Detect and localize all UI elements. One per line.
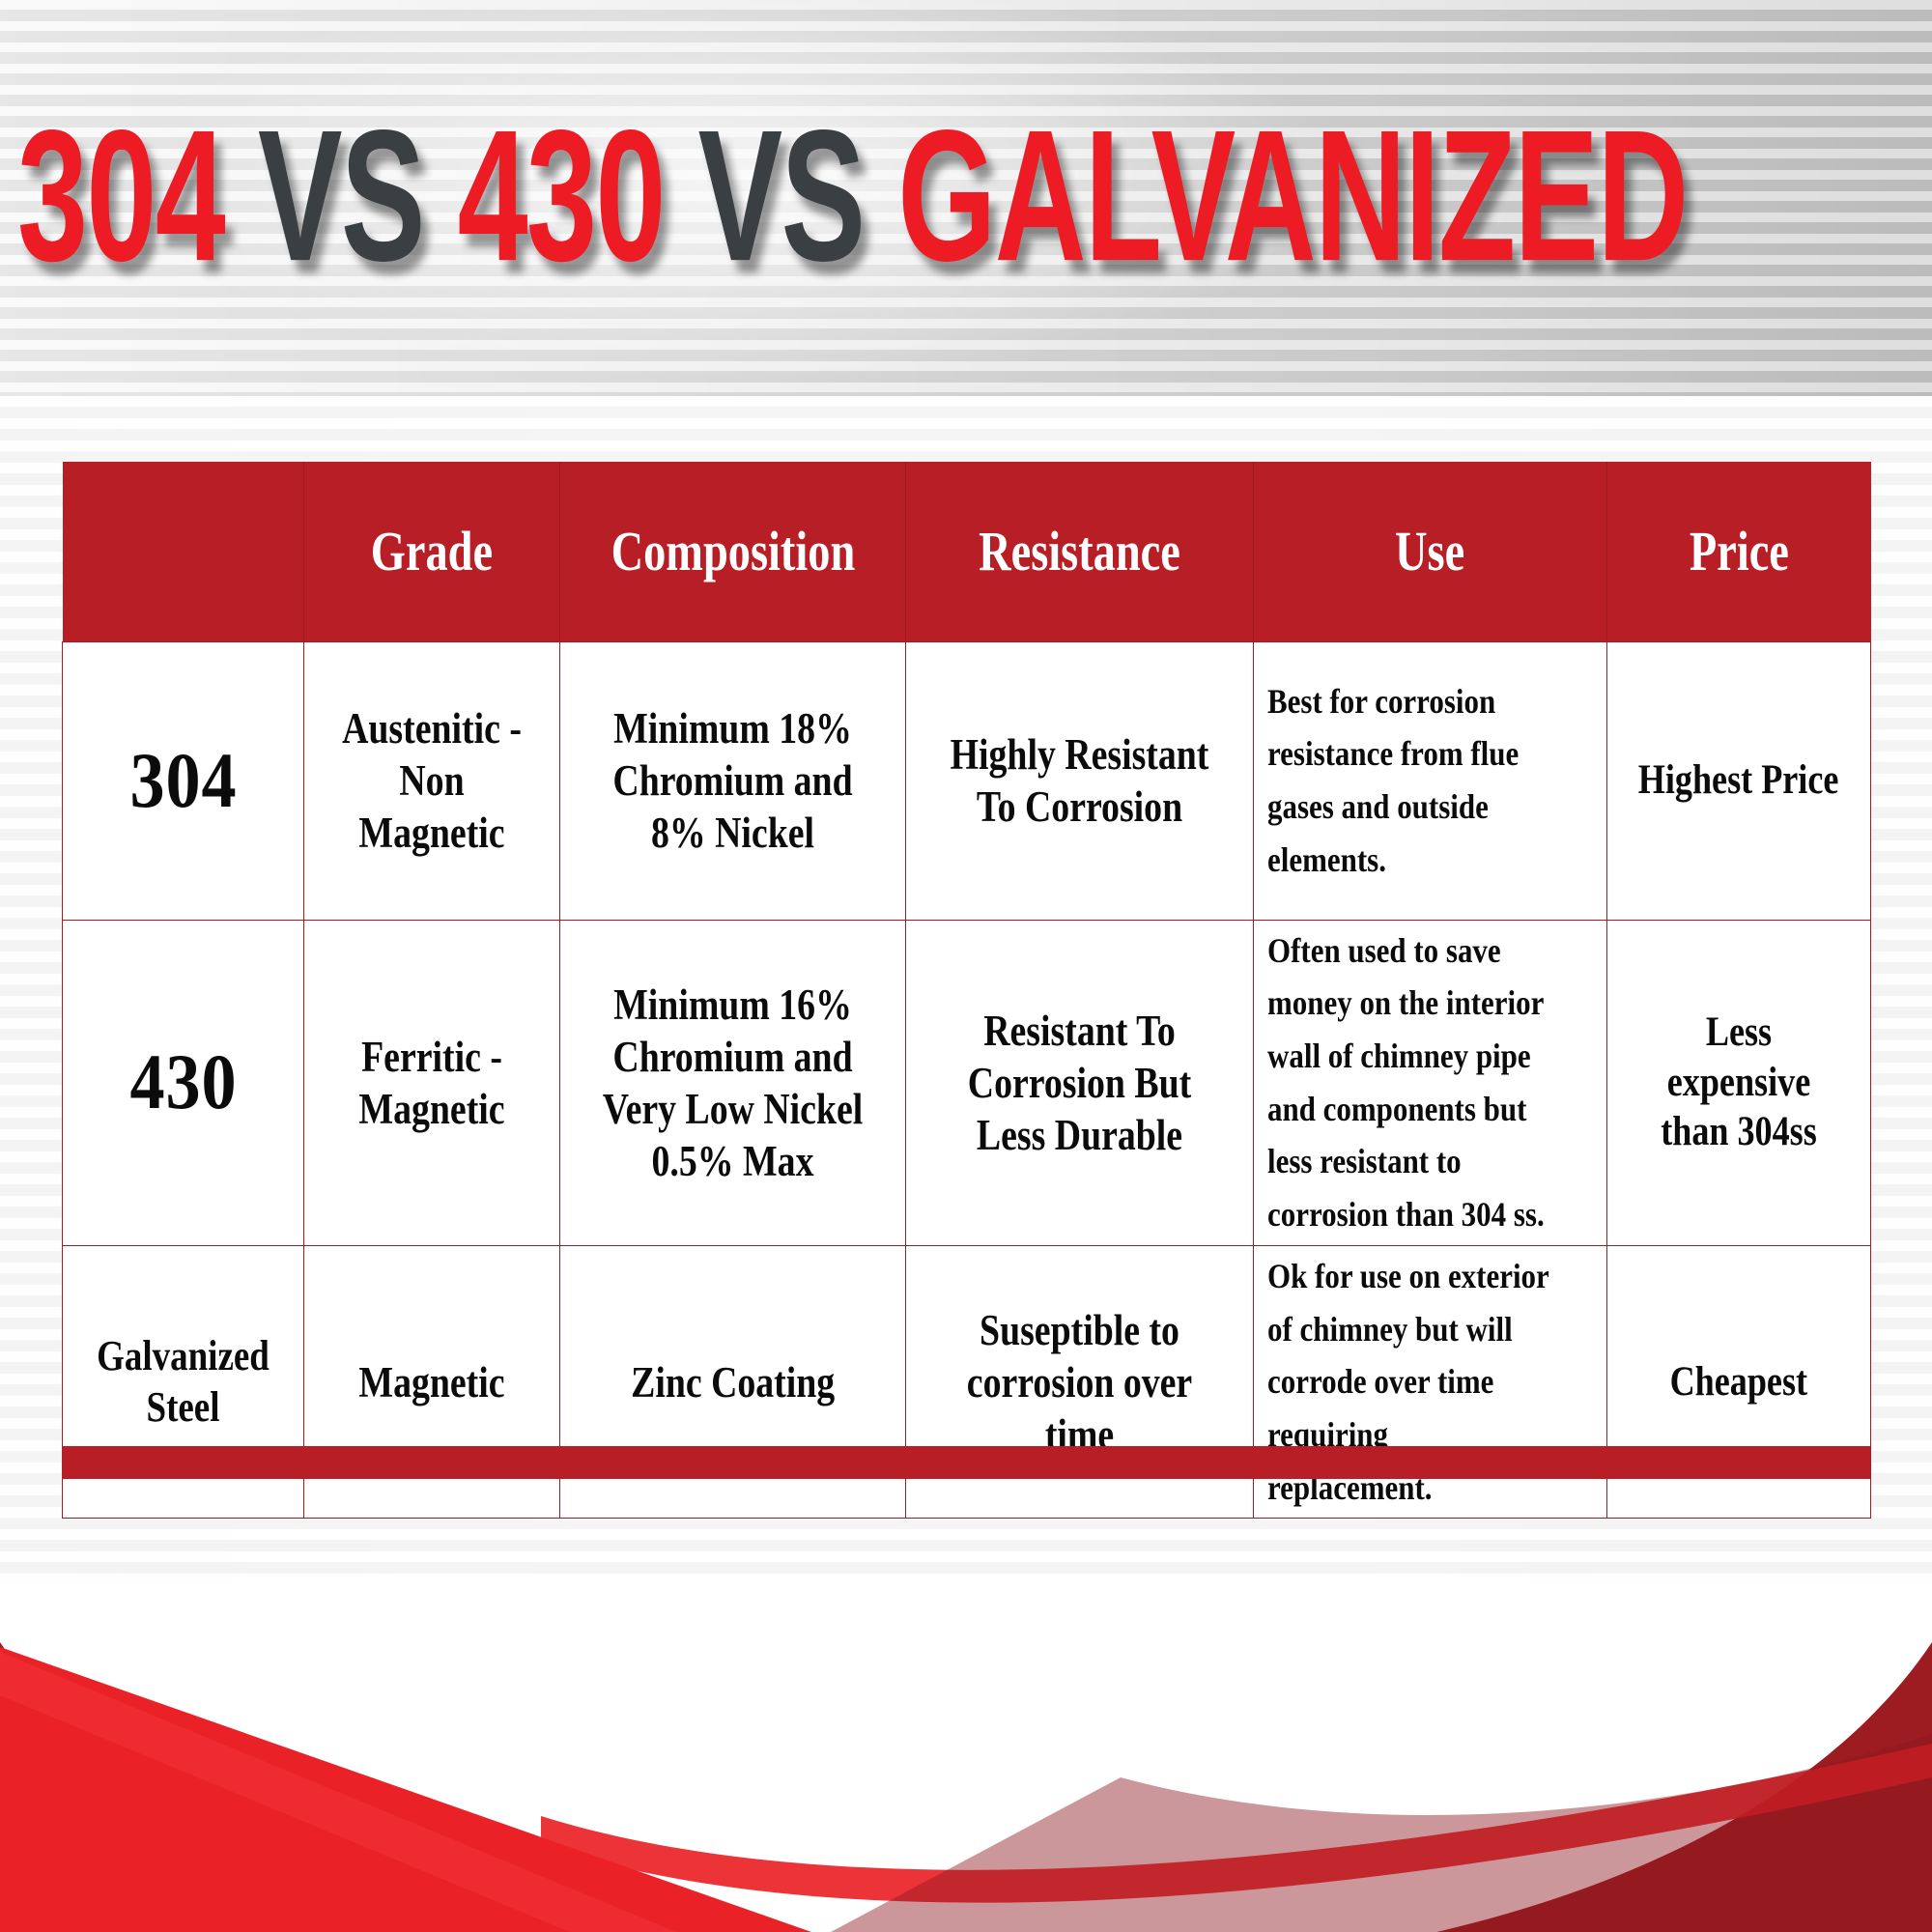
table-header: Grade Composition Resistance Use Price — [63, 462, 1871, 641]
table-body: 304 Austenitic - Non Magnetic Minimum 18… — [63, 641, 1871, 1519]
header-row: Grade Composition Resistance Use Price — [63, 462, 1871, 641]
wave-shadow-shape — [831, 1734, 1932, 1932]
cell-material-430: 430 — [63, 920, 304, 1245]
cell-grade-304: Austenitic - Non Magnetic — [304, 641, 560, 920]
header-cell-blank — [63, 462, 304, 641]
header-cell-composition: Composition — [560, 462, 906, 641]
table-footer-bar — [62, 1446, 1870, 1479]
bottom-decoration — [0, 1526, 1932, 1932]
table-row: 304 Austenitic - Non Magnetic Minimum 18… — [63, 641, 1871, 920]
wave-bright-left-shape — [0, 1647, 811, 1932]
cell-use-430: Often used to save money on the interior… — [1254, 920, 1607, 1245]
title-part-vs-2: VS — [665, 91, 898, 299]
comparison-table: Grade Composition Resistance Use Price 3… — [62, 462, 1871, 1519]
title-part-vs-1: VS — [224, 91, 458, 299]
table-row: 430 Ferritic - Magnetic Minimum 16% Chro… — [63, 920, 1871, 1245]
header-cell-use: Use — [1254, 462, 1607, 641]
cell-grade-430: Ferritic - Magnetic — [304, 920, 560, 1245]
cell-composition-430: Minimum 16% Chromium and Very Low Nickel… — [560, 920, 906, 1245]
cell-composition-304: Minimum 18% Chromium and 8% Nickel — [560, 641, 906, 920]
title-part-304: 304 — [17, 91, 224, 299]
comparison-table-wrapper: Grade Composition Resistance Use Price 3… — [62, 462, 1870, 1519]
cell-price-430: Less expensive than 304ss — [1607, 920, 1871, 1245]
cell-price-304: Highest Price — [1607, 641, 1871, 920]
cell-resistance-430: Resistant To Corrosion But Less Durable — [906, 920, 1254, 1245]
title-part-galvanized: GALVANIZED — [897, 91, 1687, 299]
page-title: 304 VS 430 VS GALVANIZED — [17, 111, 1544, 282]
header-cell-resistance: Resistance — [906, 462, 1254, 641]
title-part-430: 430 — [458, 91, 665, 299]
cell-resistance-304: Highly Resistant To Corrosion — [906, 641, 1254, 920]
bottom-wave-graphic — [0, 1526, 1932, 1932]
cell-use-304: Best for corrosion resistance from flue … — [1254, 641, 1607, 920]
header-cell-price: Price — [1607, 462, 1871, 641]
header-cell-grade: Grade — [304, 462, 560, 641]
cell-material-304: 304 — [63, 641, 304, 920]
